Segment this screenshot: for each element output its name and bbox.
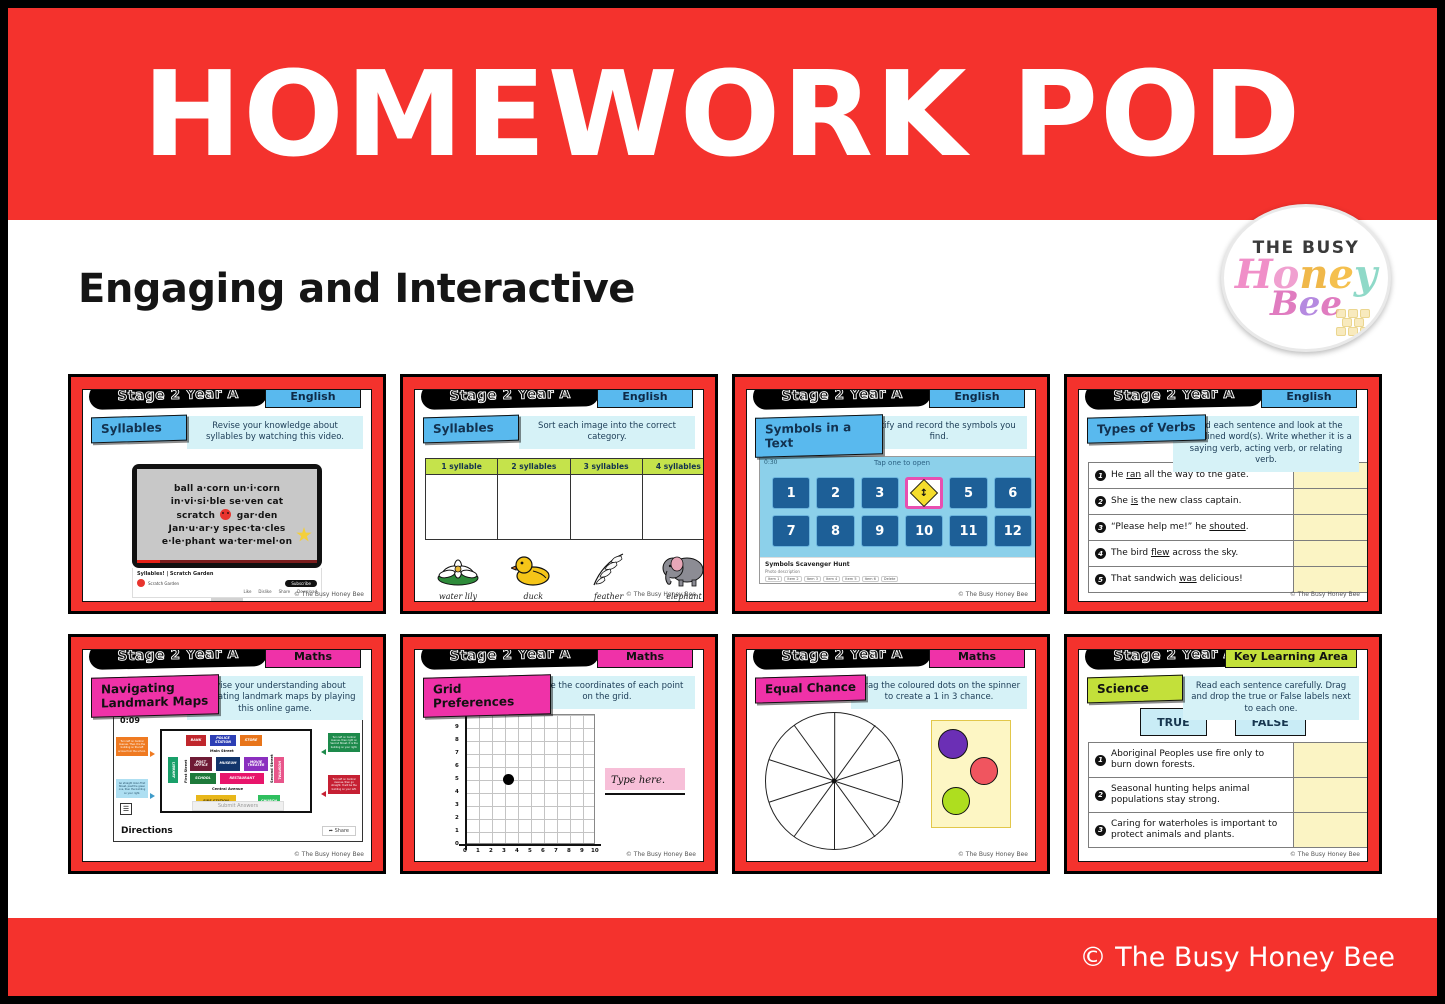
map-building-library[interactable]: LIBRARY <box>168 757 178 783</box>
game-tile[interactable]: 3 <box>861 477 899 509</box>
x-tick: 10 <box>591 848 599 854</box>
map-building-restaurant[interactable]: RESTAURANT <box>220 773 264 784</box>
question-text: That sandwich was delicious! <box>1111 574 1243 585</box>
sort-column[interactable]: 2 syllables <box>498 459 570 539</box>
subject-tab: Key Learning Area <box>1225 649 1357 668</box>
callout-arrow-icon <box>321 791 326 797</box>
purple-dot[interactable] <box>938 729 968 759</box>
menu-icon[interactable]: ☰ <box>120 803 132 815</box>
row-number: 1 <box>1095 470 1106 481</box>
answer-cell[interactable] <box>1293 489 1368 514</box>
y-tick: 6 <box>455 763 459 769</box>
footer-bar: © The Busy Honey Bee <box>8 918 1437 996</box>
video-line-2: in·vi·si·ble se·ven cat <box>171 496 284 509</box>
card-copyright: © The Busy Honey Bee <box>1290 851 1360 858</box>
map-timer: 0:09 <box>120 716 140 725</box>
question-text: Aboriginal Peoples use fire only to burn… <box>1111 749 1287 771</box>
game-hint: Tap one to open <box>760 457 1036 467</box>
game-title: Symbols Scavenger Hunt <box>765 561 1036 568</box>
duck-icon <box>502 550 564 590</box>
stage-badge: Stage 2 Year A <box>1085 389 1264 410</box>
x-tick: 0 <box>463 848 467 854</box>
game-chip-delete[interactable]: Delete <box>881 576 899 582</box>
card-landmark-maps[interactable]: Stage 2 Year A Maths Navigating Landmark… <box>68 634 386 874</box>
logo-line-3: Bee <box>1270 288 1342 320</box>
stage-label: Stage 2 Year A <box>1113 389 1235 404</box>
stage-badge: Stage 2 Year A <box>89 389 268 410</box>
science-table[interactable]: 1Aboriginal Peoples use fire only to bur… <box>1088 742 1368 848</box>
subject-label: English <box>290 390 335 403</box>
landmark-map-game[interactable]: 0:09 Turn left on Central Avenue. Then i… <box>113 712 363 842</box>
scavenger-hunt-game[interactable]: 0:30 Tap one to open 1 2 3 ↕ 5 6 7 8 <box>759 456 1036 584</box>
y-tick: 4 <box>455 789 459 795</box>
syllable-sort-table[interactable]: 1 syllable 2 syllables 3 syllables 4 syl… <box>425 458 704 540</box>
video-player[interactable]: ball a·corn un·i·corn in·vi·si·ble se·ve… <box>137 469 317 563</box>
monitor-screen: ball a·corn un·i·corn in·vi·si·ble se·ve… <box>132 464 322 568</box>
subject-label: Key Learning Area <box>1234 650 1348 663</box>
star-icon <box>296 527 312 543</box>
stage-badge: Stage 2 Year A <box>421 649 600 670</box>
video-line-1: ball a·corn un·i·corn <box>174 483 280 496</box>
question-text: She is the new class captain. <box>1111 496 1241 507</box>
table-row[interactable]: 5That sandwich was delicious! <box>1089 567 1368 592</box>
topic-label: Syllables <box>423 415 519 443</box>
card-syllables-sort[interactable]: Stage 2 Year A English Syllables Sort ea… <box>400 374 718 614</box>
subject-tab: Maths <box>929 649 1025 668</box>
spinner-hub <box>832 779 837 784</box>
game-tile[interactable]: 6 <box>994 477 1032 509</box>
answer-cell[interactable] <box>1293 778 1368 812</box>
directions-label: Directions <box>121 826 173 836</box>
answer-input[interactable]: Type here. <box>605 768 685 795</box>
game-chip[interactable]: Item 6 <box>862 576 879 582</box>
row-number: 1 <box>1095 755 1106 766</box>
card-copyright: © The Busy Honey Bee <box>294 591 364 598</box>
game-chip[interactable]: Item 3 <box>804 576 821 582</box>
share-button[interactable]: ➦ Share <box>322 826 356 836</box>
monitor-mockup: ball a·corn un·i·corn in·vi·si·ble se·ve… <box>132 464 322 602</box>
face-icon <box>220 509 231 520</box>
topic-label: Equal Chance <box>755 674 866 703</box>
video-actions: Like Dislike Share Download <box>137 589 317 594</box>
y-tick: 2 <box>455 815 459 821</box>
video-word-scratch: scratch <box>176 511 215 521</box>
card-inner: Stage 2 Year A Maths Grid Preferences Na… <box>414 649 704 862</box>
game-tile[interactable]: 8 <box>816 515 854 547</box>
subject-tab: English <box>1261 389 1357 408</box>
x-axis <box>459 844 601 846</box>
verbs-table[interactable]: 1He ran all the way to the gate. 2She is… <box>1088 462 1368 593</box>
table-row[interactable]: 1Aboriginal Peoples use fire only to bur… <box>1089 743 1368 778</box>
topic-label: Navigating Landmark Maps <box>91 674 219 717</box>
topic-label: Syllables <box>91 415 187 443</box>
card-types-of-verbs[interactable]: Stage 2 Year A English Types of Verbs Re… <box>1064 374 1382 614</box>
game-chip[interactable]: Item 4 <box>823 576 840 582</box>
answer-cell[interactable] <box>1293 541 1368 566</box>
dislike-button[interactable]: Dislike <box>258 589 271 594</box>
stage-badge: Stage 2 Year A <box>89 649 268 670</box>
channel-avatar-icon <box>137 579 145 587</box>
submit-answers-button[interactable]: Submit Answers <box>192 801 284 811</box>
stage-label: Stage 2 Year A <box>781 389 903 404</box>
game-chip[interactable]: Item 5 <box>842 576 859 582</box>
video-channel: Scratch Garden <box>148 581 179 586</box>
subject-tab: English <box>929 389 1025 408</box>
honeycomb-icon <box>1336 309 1370 335</box>
topic-label: Types of Verbs <box>1087 414 1206 443</box>
card-copyright: © The Busy Honey Bee <box>626 851 696 858</box>
card-copyright: © The Busy Honey Bee <box>958 851 1028 858</box>
elephant-icon <box>653 550 704 590</box>
card-copyright: © The Busy Honey Bee <box>294 851 364 858</box>
x-tick: 4 <box>515 848 519 854</box>
column-header: 3 syllables <box>584 462 629 471</box>
x-tick: 3 <box>502 848 506 854</box>
picture-label: water lily <box>427 592 489 601</box>
x-tick: 8 <box>567 848 571 854</box>
y-tick: 7 <box>455 750 459 756</box>
dot-tray[interactable] <box>931 720 1011 828</box>
answer-cell[interactable] <box>1293 567 1368 592</box>
y-tick: 8 <box>455 737 459 743</box>
card-inner: Stage 2 Year A Maths Navigating Landmark… <box>82 649 372 862</box>
row-number: 3 <box>1095 825 1106 836</box>
card-copyright: © The Busy Honey Bee <box>626 591 696 598</box>
table-row[interactable]: 2She is the new class captain. <box>1089 489 1368 515</box>
video-title: Syllables! | Scratch Garden <box>137 571 317 577</box>
card-row-top: Stage 2 Year A English Syllables Revise … <box>68 374 1398 614</box>
subtitle: Engaging and Interactive <box>78 266 635 312</box>
instruction-box: Sort each image into the correct categor… <box>519 416 695 449</box>
y-tick: 5 <box>455 776 459 782</box>
callout-arrow-icon <box>150 751 155 757</box>
stage-badge: Stage 2 Year A <box>753 389 932 410</box>
card-symbols-in-text[interactable]: Stage 2 Year A English Symbols in a Text… <box>732 374 1050 614</box>
card-syllables-video[interactable]: Stage 2 Year A English Syllables Revise … <box>68 374 386 614</box>
game-tile[interactable]: 1 <box>772 477 810 509</box>
coordinate-grid[interactable]: 0 1 2 3 4 5 6 7 8 9 10 0 1 2 3 <box>443 708 603 858</box>
game-timer: 0:30 <box>764 459 777 466</box>
answer-cell[interactable] <box>1293 743 1368 777</box>
road-sign-icon: ↕ <box>910 479 938 507</box>
water-lily-icon <box>427 550 489 590</box>
game-chip[interactable]: Item 1 <box>765 576 782 582</box>
card-inner: Stage 2 Year A English Syllables Sort ea… <box>414 389 704 602</box>
game-tile[interactable]: 7 <box>772 515 810 547</box>
stage-label: Stage 2 Year A <box>781 649 903 664</box>
red-dot[interactable] <box>970 757 998 785</box>
map-building-museum[interactable]: MUSEUM <box>216 757 240 771</box>
map-building-post-office[interactable]: POST OFFICE <box>190 757 212 771</box>
picture-item[interactable]: water lily <box>427 550 489 601</box>
monitor-neck <box>211 598 243 602</box>
street-second: Second Street <box>270 754 274 783</box>
share-button[interactable]: Share <box>279 589 291 594</box>
table-row[interactable]: 4The bird flew across the sky. <box>1089 541 1368 567</box>
stage-label: Stage 2 Year A <box>449 649 571 664</box>
answer-underline <box>605 793 685 795</box>
brand-logo: THE BUSY Honey Bee <box>1221 204 1391 352</box>
game-subtitle: Photo description <box>765 569 1036 574</box>
table-row[interactable]: 3“Please help me!” he shouted. <box>1089 515 1368 541</box>
instruction-box: Drag the coloured dots on the spinner to… <box>851 676 1027 709</box>
map-building-school[interactable]: SCHOOL <box>190 773 216 784</box>
y-axis <box>465 708 467 850</box>
answer-placeholder: Type here. <box>611 775 665 786</box>
video-word-garden: gar·den <box>237 511 278 521</box>
picture-label: duck <box>502 592 564 601</box>
video-progress-bar[interactable] <box>137 560 317 563</box>
y-tick: 0 <box>455 841 459 847</box>
question-text: “Please help me!” he shouted. <box>1111 522 1249 533</box>
subject-label: English <box>954 390 999 403</box>
spinner-wheel[interactable] <box>765 712 903 850</box>
stage-label: Stage 2 Year A <box>449 389 571 404</box>
subject-label: English <box>622 390 667 403</box>
callout-arrow-icon <box>321 749 326 755</box>
x-tick: 2 <box>489 848 493 854</box>
card-inner: Stage 2 Year A English Symbols in a Text… <box>746 389 1036 602</box>
game-tile[interactable]: 5 <box>949 477 987 509</box>
x-tick: 1 <box>476 848 480 854</box>
subject-tab: Maths <box>265 649 361 668</box>
map-callout[interactable]: Turn left on Central Avenue, then right … <box>328 733 360 752</box>
like-button[interactable]: Like <box>243 589 251 594</box>
game-chips: Item 1 Item 2 Item 3 Item 4 Item 5 Item … <box>765 576 1036 582</box>
subject-label: Maths <box>294 650 332 663</box>
card-grid: Stage 2 Year A English Syllables Revise … <box>68 374 1398 894</box>
table-row[interactable]: 2Seasonal hunting helps animal populatio… <box>1089 778 1368 813</box>
map-callout[interactable]: Go straight down First Street, past the … <box>116 779 148 798</box>
poster-page: HOMEWORK POD Engaging and Interactive TH… <box>0 0 1445 1004</box>
card-copyright: © The Busy Honey Bee <box>1290 591 1360 598</box>
subject-tab: English <box>597 389 693 408</box>
question-text: Caring for waterholes is important to pr… <box>1111 819 1287 841</box>
topic-label: Symbols in a Text <box>755 414 883 457</box>
row-number: 5 <box>1095 574 1106 585</box>
picture-item[interactable]: duck <box>502 550 564 601</box>
stage-badge: Stage 2 Year A <box>753 649 932 670</box>
plotted-point[interactable] <box>503 774 514 785</box>
street-central: Central Avenue <box>212 787 243 791</box>
question-text: The bird flew across the sky. <box>1111 548 1238 559</box>
video-line-3: scratch gar·den <box>176 509 277 523</box>
game-topbar: 0:30 Tap one to open <box>760 457 1036 469</box>
y-tick: 3 <box>455 802 459 808</box>
sort-column[interactable]: 3 syllables <box>571 459 643 539</box>
map-building-bank[interactable]: BANK <box>186 735 206 746</box>
map-callout[interactable]: Turn left on Central Avenue, then go str… <box>328 775 360 794</box>
map-building-hospital[interactable]: HOSPITAL <box>274 757 284 783</box>
x-tick: 7 <box>554 848 558 854</box>
row-number: 2 <box>1095 496 1106 507</box>
game-tile[interactable]: 12 <box>994 515 1032 547</box>
stage-label: Stage 2 Year A <box>117 649 239 664</box>
y-tick: 1 <box>455 828 459 834</box>
street-main: Main Street <box>210 749 234 753</box>
video-channel-row: Scratch Garden Subscribe <box>137 579 317 587</box>
card-inner: Stage 2 Year A English Syllables Revise … <box>82 389 372 602</box>
row-number: 3 <box>1095 522 1106 533</box>
game-tile[interactable]: 11 <box>949 515 987 547</box>
x-tick: 5 <box>528 848 532 854</box>
column-header: 2 syllables <box>511 462 556 471</box>
feather-icon <box>578 550 640 590</box>
street-first: First Street <box>184 760 188 783</box>
card-inner: Stage 2 Year A Maths Equal Chance Drag t… <box>746 649 1036 862</box>
row-number: 4 <box>1095 548 1106 559</box>
x-tick: 9 <box>580 848 584 854</box>
map-callout[interactable]: Turn left on Central Avenue. Then it is … <box>116 737 148 756</box>
game-tile[interactable]: 2 <box>816 477 854 509</box>
game-tile-open[interactable]: ↕ <box>905 477 943 509</box>
subject-tab: English <box>265 389 361 408</box>
column-header: 4 syllables <box>656 462 701 471</box>
callout-arrow-icon <box>150 793 155 799</box>
card-copyright: © The Busy Honey Bee <box>958 591 1028 598</box>
tile-grid[interactable]: 1 2 3 ↕ 5 6 7 8 9 10 11 12 <box>760 469 1036 547</box>
table-row[interactable]: 3Caring for waterholes is important to p… <box>1089 813 1368 847</box>
grid-area[interactable] <box>465 714 595 844</box>
topic-label: Science <box>1087 675 1183 703</box>
card-equal-chance[interactable]: Stage 2 Year A Maths Equal Chance Drag t… <box>732 634 1050 874</box>
subject-tab: Maths <box>597 649 693 668</box>
card-grid-preferences[interactable]: Stage 2 Year A Maths Grid Preferences Na… <box>400 634 718 874</box>
card-inner: Stage 2 Year A English Types of Verbs Re… <box>1078 389 1368 602</box>
answer-cell[interactable] <box>1293 813 1368 847</box>
stage-badge: Stage 2 Year A <box>421 389 600 410</box>
map-building-police-station[interactable]: POLICE STATION <box>210 735 236 746</box>
subscribe-button[interactable]: Subscribe <box>285 580 317 587</box>
row-number: 2 <box>1095 790 1106 801</box>
game-tile[interactable]: 9 <box>861 515 899 547</box>
map-building-movie-theater[interactable]: MOVIE THEATER <box>244 757 268 771</box>
column-header: 1 syllable <box>441 462 481 471</box>
header-banner: HOMEWORK POD <box>8 8 1437 220</box>
y-tick: 9 <box>455 724 459 730</box>
video-line-5: e·le·phant wa·ter·mel·on <box>162 536 292 549</box>
stage-label: Stage 2 Year A <box>1113 649 1235 664</box>
sort-column[interactable]: 4 syllables <box>643 459 704 539</box>
instruction-box: Read each sentence carefully. Drag and d… <box>1183 676 1359 720</box>
card-inner: Stage 2 Year A Key Learning Area Science… <box>1078 649 1368 862</box>
footer-copyright: © The Busy Honey Bee <box>1080 942 1396 973</box>
map-building-store[interactable]: STORE <box>240 735 262 746</box>
game-chip[interactable]: Item 2 <box>784 576 801 582</box>
card-science-true-false[interactable]: Stage 2 Year A Key Learning Area Science… <box>1064 634 1382 874</box>
game-tile[interactable]: 10 <box>905 515 943 547</box>
subject-label: Maths <box>958 650 996 663</box>
page-title: HOMEWORK POD <box>143 55 1303 173</box>
question-text: Seasonal hunting helps animal population… <box>1111 784 1287 806</box>
instruction-box: Revise your knowledge about syllables by… <box>187 416 363 449</box>
subject-label: English <box>1286 390 1331 403</box>
green-dot[interactable] <box>942 787 970 815</box>
stage-label: Stage 2 Year A <box>117 389 239 404</box>
sort-column[interactable]: 1 syllable <box>426 459 498 539</box>
subject-label: Maths <box>626 650 664 663</box>
topic-label: Grid Preferences <box>423 674 551 717</box>
game-footer: Symbols Scavenger Hunt Photo description… <box>760 557 1036 583</box>
video-line-4: Jan·u·ar·y spec·ta·cles <box>169 523 286 536</box>
answer-cell[interactable] <box>1293 515 1368 540</box>
x-tick: 6 <box>541 848 545 854</box>
card-row-bottom: Stage 2 Year A Maths Navigating Landmark… <box>68 634 1398 874</box>
